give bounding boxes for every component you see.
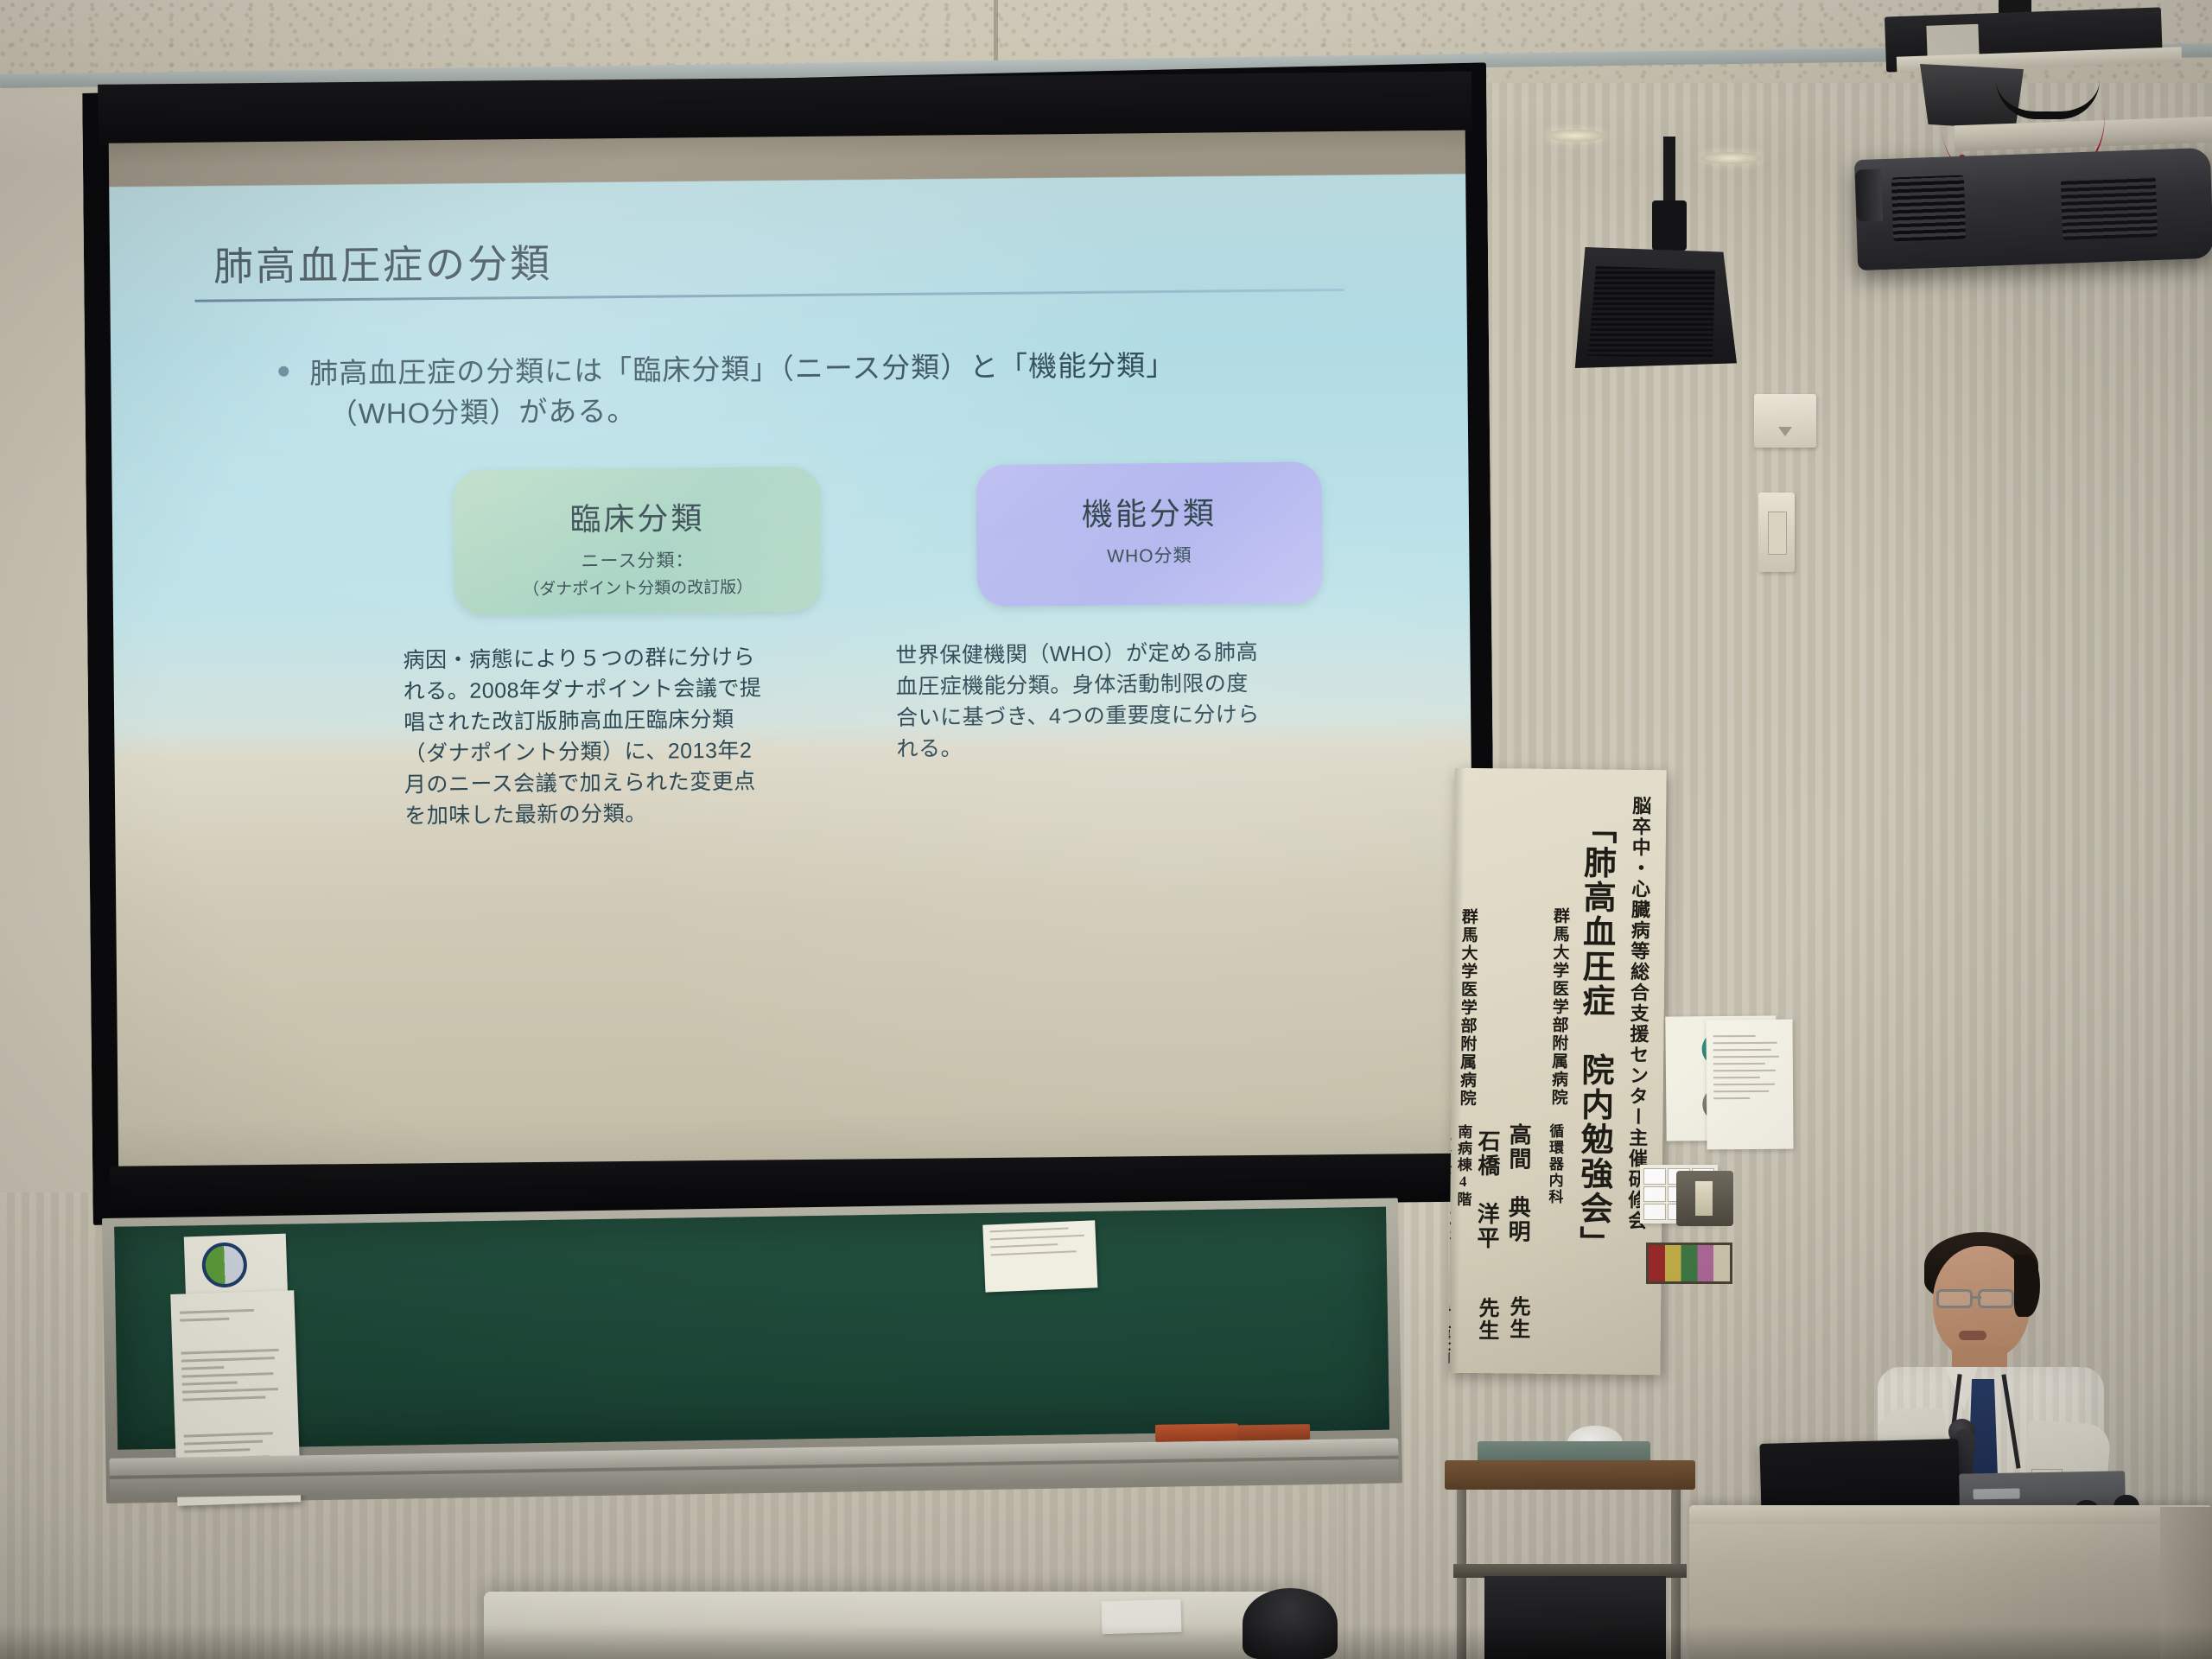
clinical-description-text: 病因・病態により５つの群に分けられる。2008年ダナポイント会議で提唱された改訂… <box>403 641 767 831</box>
projector-vent-grill <box>2061 176 2158 240</box>
ceiling-light-icon <box>1700 152 1761 164</box>
thermostat-icon[interactable] <box>1754 394 1816 448</box>
poster-department: 循環器内科 <box>1543 1123 1566 1205</box>
side-table-top <box>1445 1460 1695 1490</box>
slide-bullet-paragraph: 肺高血圧症の分類には「臨床分類」（ニース分類）と「機能分類」 （WHO分類）があ… <box>309 344 1347 435</box>
slide-title: 肺高血圧症の分類 <box>213 232 553 293</box>
laptop-logo <box>1973 1488 2019 1499</box>
lecture-hall-scene: 肺高血圧症の分類 肺高血圧症の分類には「臨床分類」（ニース分類）と「機能分類」 … <box>0 0 2212 1659</box>
eyeglasses-icon <box>1936 1289 1973 1308</box>
organization-logo-icon <box>201 1242 248 1288</box>
chalkboard <box>102 1198 1402 1503</box>
eyeglasses-bridge <box>1971 1296 1981 1299</box>
wall-color-swatch-board <box>1646 1243 1732 1284</box>
projector-vent-grill <box>1891 175 1967 242</box>
poster-speaker-title-3: 看護師 <box>1448 1301 1453 1369</box>
speaker-mount-joint <box>1652 200 1687 251</box>
wall-outlet-plate[interactable] <box>1758 493 1795 572</box>
clinical-box-heading: 臨床分類 <box>454 493 821 541</box>
functional-box-sub1: WHO分類 <box>976 540 1322 569</box>
bullet-point-icon <box>278 366 289 377</box>
event-poster: 脳卒中・心臓病等総合支援センター主催研修会 「肺高血圧症 院内勉強会」 群馬大学… <box>1448 768 1666 1376</box>
presenter-mouth <box>1959 1331 1986 1340</box>
board-notice-header <box>184 1234 288 1298</box>
presenter-hair-side <box>2014 1255 2040 1317</box>
foreground-shadow <box>0 1624 2212 1659</box>
clinical-box-sub1: ニース分類： <box>454 545 821 575</box>
eyeglasses-icon <box>1978 1289 2014 1308</box>
functional-box-heading: 機能分類 <box>976 487 1322 536</box>
podium-top-edge <box>1689 1505 2212 1524</box>
poster-speaker-name-2: 石橋 洋平 <box>1471 1129 1503 1250</box>
poster-speaker-title-2: 先生 <box>1471 1297 1503 1342</box>
poster-speaker-title-1: 先生 <box>1503 1295 1534 1340</box>
poster-organization-1: 群馬大学医学部附属病院 <box>1547 907 1572 1107</box>
slide-content: 肺高血圧症の分類 肺高血圧症の分類には「臨床分類」（ニース分類）と「機能分類」 … <box>109 186 1471 804</box>
wall-notice-right <box>1706 1020 1793 1150</box>
clinical-classification-box: 臨床分類 ニース分類： （ダナポイント分類の改訂版） <box>453 467 822 615</box>
chalkboard-writing-surface[interactable] <box>114 1207 1389 1450</box>
speaker-mount-rod <box>1663 137 1675 204</box>
clinical-box-sub2: （ダナポイント分類の改訂版） <box>454 574 822 601</box>
board-notice-paper-secondary <box>982 1220 1097 1292</box>
functional-description-text: 世界保健機関（WHO）が定める肺高血圧症機能分類。身体活動制限の度合いに基づき、… <box>895 637 1268 765</box>
poster-title: 「肺高血圧症 院内勉強会」 <box>1569 810 1621 1261</box>
chalkboard-eraser[interactable] <box>1155 1423 1238 1442</box>
poster-organization-2: 群馬大学医学部附属病院 <box>1455 908 1480 1108</box>
slide-bullet-line-1: 肺高血圧症の分類には「臨床分類」（ニース分類）と「機能分類」 <box>309 349 1175 390</box>
chalkboard-eraser[interactable] <box>1237 1424 1310 1440</box>
projector-lens-icon <box>1855 168 1883 221</box>
screen-surface: 肺高血圧症の分類 肺高血圧症の分類には「臨床分類」（ニース分類）と「機能分類」 … <box>109 130 1475 1172</box>
projection-screen: 肺高血圧症の分類 肺高血圧症の分類には「臨床分類」（ニース分類）と「機能分類」 … <box>82 62 1497 1225</box>
poster-speaker-name-1: 高間 典明 <box>1502 1122 1535 1243</box>
functional-classification-box: 機能分類 WHO分類 <box>976 461 1323 607</box>
poster-ward: 南病棟4階 <box>1452 1124 1474 1208</box>
ceiling-light-icon <box>1545 130 1605 142</box>
speaker-grill <box>1588 266 1718 359</box>
slide-bullet-line-2: （WHO分類）がある。 <box>310 385 1347 435</box>
light-switch-icon[interactable] <box>1676 1171 1733 1226</box>
